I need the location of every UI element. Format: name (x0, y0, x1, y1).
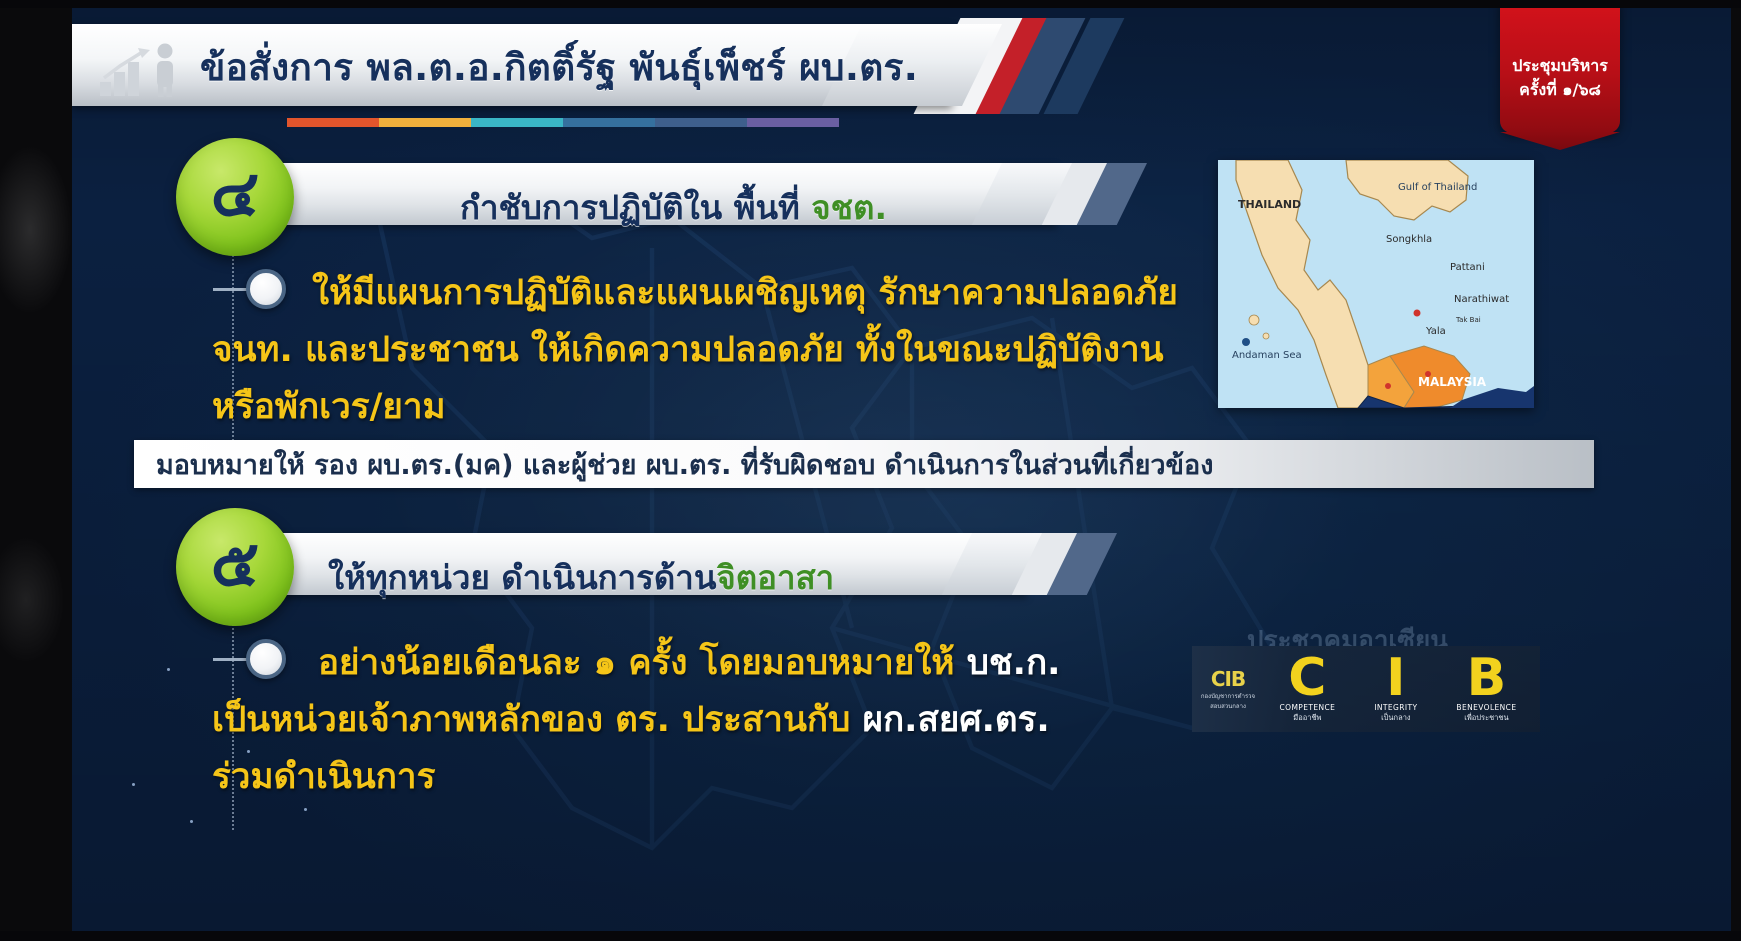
cib-letter-b-en: BENEVOLENCE (1456, 703, 1516, 712)
section-4-number: ๔ (211, 162, 259, 226)
cib-letter-c-th: มืออาชีพ (1293, 712, 1321, 724)
cib-letter-i-char: I (1386, 654, 1405, 703)
svg-text:Narathiwat: Narathiwat (1454, 294, 1509, 305)
section-5-body-line-1-white: บช.ก. (967, 643, 1061, 683)
section-5-body-line-1: อย่างน้อยเดือนละ ๑ ครั้ง โดยมอบหมายให้ บ… (318, 636, 1060, 691)
section-4-title-main: กำชับการปฏิบัติใน พื้นที่ (460, 188, 811, 227)
letterbox-top (0, 0, 1741, 8)
decor-star (304, 808, 307, 811)
section-5-bullet-dot (246, 639, 286, 679)
page-title: ข้อสั่งการ พล.ต.อ.กิตติ์รัฐ พันธุ์เพ็ชร์… (200, 38, 918, 97)
cib-letter-c-en: COMPETENCE (1280, 703, 1336, 712)
letterbox-right (1731, 0, 1741, 941)
accent-rule-segment (471, 118, 563, 127)
meeting-badge-line-1: ประชุมบริหาร (1512, 54, 1608, 77)
cib-letter-i-th: เป็นกลาง (1381, 712, 1410, 724)
section-5-body-line-2: เป็นหน่วยเจ้าภาพหลักของ ตร. ประสานกับ ผก… (212, 693, 1050, 748)
section-4-body-line-2: จนท. และประชาชน ให้เกิดความปลอดภัย ทั้งใ… (212, 323, 1164, 378)
accent-rule-segment (655, 118, 747, 127)
cib-small-logo: CIB กองบัญชาการตำรวจสอบสวนกลาง (1200, 667, 1256, 711)
section-4-number-badge: ๔ (176, 138, 294, 256)
header: ข้อสั่งการ พล.ต.อ.กิตติ์รัฐ พันธุ์เพ็ชร์… (72, 24, 1092, 110)
accent-rule-segment (287, 118, 379, 127)
decor-star (167, 668, 170, 671)
decor-star (132, 783, 135, 786)
svg-text:Songkhla: Songkhla (1386, 234, 1432, 245)
section-5-body-line-1-yellow: อย่างน้อยเดือนละ ๑ ครั้ง โดยมอบหมายให้ (318, 643, 967, 683)
slide-canvas: ข้อสั่งการ พล.ต.อ.กิตติ์รัฐ พันธุ์เพ็ชร์… (72, 8, 1731, 931)
section-5-number-badge: ๕ (176, 508, 294, 626)
svg-text:THAILAND: THAILAND (1238, 198, 1301, 211)
section-4-bullet-dot (246, 269, 286, 309)
section-4-title: กำชับการปฏิบัติใน พื้นที่ จชต. (460, 181, 887, 234)
thailand-map-image: THAILAND Gulf of Thailand Songkhla Patta… (1218, 160, 1534, 408)
section-5-title-highlight: จิตอาสา (716, 558, 834, 597)
cib-letter-i-en: INTEGRITY (1374, 703, 1417, 712)
svg-text:Andaman Sea: Andaman Sea (1232, 350, 1302, 361)
letterbox-bottom (0, 931, 1741, 941)
cib-letter-c-char: C (1288, 654, 1326, 703)
meeting-badge-line-2: ครั้งที่ ๑/๖๘ (1519, 78, 1601, 101)
svg-text:Yala: Yala (1425, 326, 1446, 337)
cib-letter-b-th: เพื่อประชาชน (1464, 712, 1508, 724)
cib-letter-b: B BENEVOLENCE เพื่อประชาชน (1456, 654, 1516, 724)
decor-star (190, 820, 193, 823)
cib-letter-c: C COMPETENCE มืออาชีพ (1280, 654, 1336, 724)
section-5-number: ๕ (211, 532, 259, 596)
cib-letter-b-char: B (1467, 654, 1507, 703)
cib-letters: C COMPETENCE มืออาชีพ I INTEGRITY เป็นกล… (1256, 654, 1540, 724)
section-5-body-line-2-white: ผก.สยศ.ตร. (862, 700, 1049, 740)
accent-rule-segment (747, 118, 839, 127)
meeting-badge: ประชุมบริหาร ครั้งที่ ๑/๖๘ (1500, 0, 1620, 133)
svg-text:Tak Bai: Tak Bai (1455, 316, 1481, 324)
section-4-assignment-bar: มอบหมายให้ รอง ผบ.ตร.(มค) และผู้ช่วย ผบ.… (134, 440, 1594, 488)
section-5-body-line-3-yellow: ร่วมดำเนินการ (212, 757, 435, 797)
cib-letter-i: I INTEGRITY เป็นกลาง (1374, 654, 1417, 724)
section-5-title: ให้ทุกหน่วย ดำเนินการด้านจิตอาสา (328, 551, 834, 604)
accent-rule-segment (379, 118, 471, 127)
section-4-body-line-1: ให้มีแผนการปฏิบัติและแผนเผชิญเหตุ รักษาค… (312, 266, 1178, 321)
svg-text:Gulf of Thailand: Gulf of Thailand (1398, 182, 1477, 193)
growth-person-icon (98, 42, 190, 98)
section-5-body-line-2-yellow: เป็นหน่วยเจ้าภาพหลักของ ตร. ประสานกับ (212, 700, 862, 740)
presentation-slide: ข้อสั่งการ พล.ต.อ.กิตติ์รัฐ พันธุ์เพ็ชร์… (0, 0, 1741, 941)
section-4-assignment-text: มอบหมายให้ รอง ผบ.ตร.(มค) และผู้ช่วย ผบ.… (134, 443, 1213, 486)
cib-small-sub: กองบัญชาการตำรวจสอบสวนกลาง (1200, 691, 1256, 711)
svg-text:MALAYSIA: MALAYSIA (1418, 375, 1487, 389)
accent-rule-segment (563, 118, 655, 127)
letterbox-left (0, 0, 72, 941)
section-5-title-main: ให้ทุกหน่วย ดำเนินการด้าน (328, 558, 716, 597)
section-4-title-highlight: จชต. (811, 188, 887, 227)
cib-logo-banner: CIB กองบัญชาการตำรวจสอบสวนกลาง C COMPETE… (1192, 646, 1540, 732)
svg-text:Pattani: Pattani (1450, 262, 1485, 273)
cib-small-mark: CIB (1200, 667, 1256, 691)
section-4-body-line-3: หรือพักเวร/ยาม (212, 380, 446, 435)
section-5-body-line-3: ร่วมดำเนินการ (212, 750, 435, 805)
